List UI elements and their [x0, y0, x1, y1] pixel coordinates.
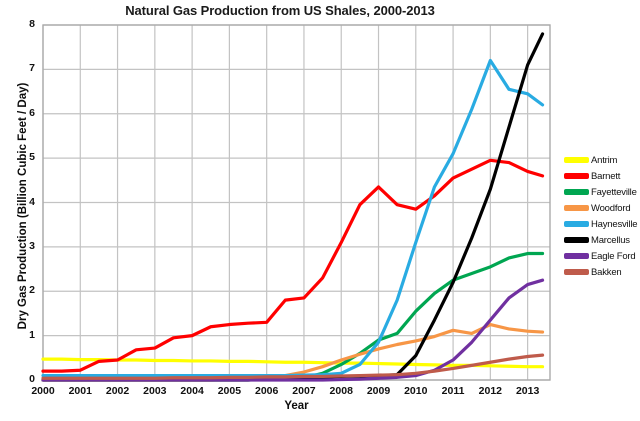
legend-item-barnett[interactable]: Barnett — [564, 168, 637, 184]
legend-label: Antrim — [591, 155, 617, 166]
legend-item-fayetteville[interactable]: Fayetteville — [564, 184, 637, 200]
grid-lines — [43, 25, 550, 380]
chart-figure: Natural Gas Production from US Shales, 2… — [0, 0, 640, 421]
y-axis-label: Dry Gas Production (Billion Cubic Feet /… — [17, 46, 29, 366]
legend-item-antrim[interactable]: Antrim — [564, 152, 637, 168]
chart-legend: AntrimBarnettFayettevilleWoodfordHaynesv… — [564, 152, 637, 280]
legend-swatch-icon — [564, 269, 589, 275]
legend-label: Barnett — [591, 171, 620, 182]
legend-swatch-icon — [564, 157, 589, 163]
legend-item-marcellus[interactable]: Marcellus — [564, 232, 637, 248]
legend-label: Fayetteville — [591, 187, 637, 198]
legend-label: Eagle Ford — [591, 251, 635, 262]
legend-swatch-icon — [564, 189, 589, 195]
legend-label: Haynesville — [591, 219, 637, 230]
legend-swatch-icon — [564, 173, 589, 179]
legend-swatch-icon — [564, 221, 589, 227]
legend-item-bakken[interactable]: Bakken — [564, 264, 637, 280]
x-axis-label: Year — [43, 400, 550, 412]
legend-label: Bakken — [591, 267, 622, 278]
y-tick-label: 8 — [11, 18, 35, 30]
legend-label: Woodford — [591, 203, 630, 214]
legend-swatch-icon — [564, 205, 589, 211]
legend-item-eagle-ford[interactable]: Eagle Ford — [564, 248, 637, 264]
legend-swatch-icon — [564, 253, 589, 259]
x-tick-label: 2013 — [505, 385, 551, 397]
legend-swatch-icon — [564, 237, 589, 243]
plot-area — [0, 0, 640, 421]
legend-label: Marcellus — [591, 235, 630, 246]
y-tick-label: 0 — [11, 373, 35, 385]
legend-item-haynesville[interactable]: Haynesville — [564, 216, 637, 232]
legend-item-woodford[interactable]: Woodford — [564, 200, 637, 216]
